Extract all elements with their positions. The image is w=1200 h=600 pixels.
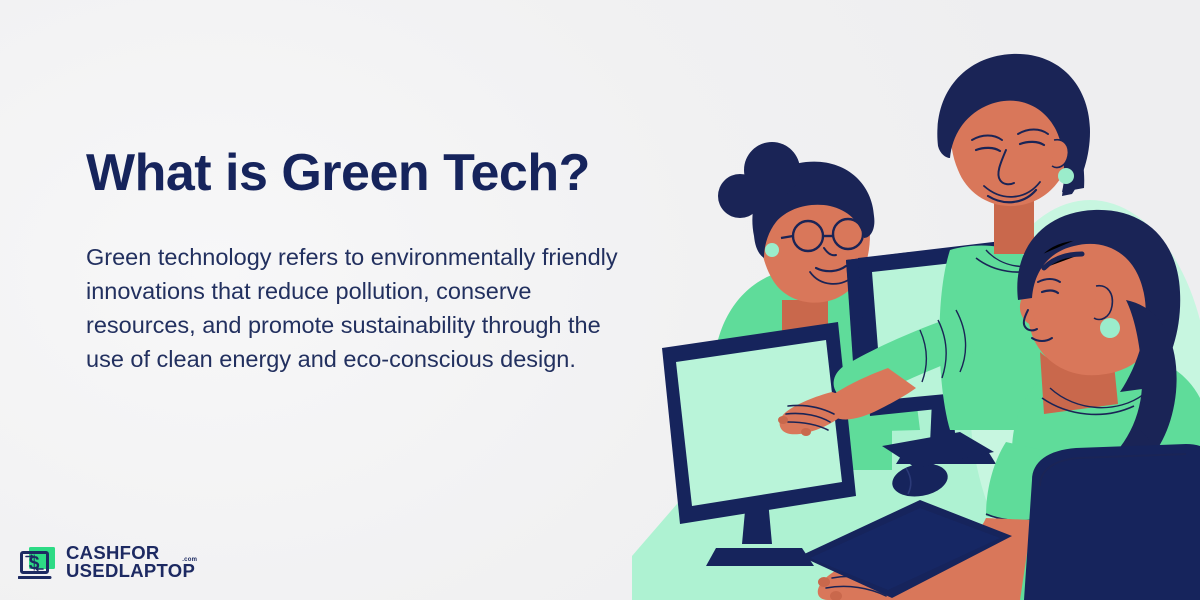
page-title: What is Green Tech? bbox=[86, 146, 646, 201]
three-people-at-computers-illustration bbox=[620, 0, 1200, 600]
brand-logo[interactable]: $ CASHFOR USEDLAPTOP .com bbox=[18, 543, 195, 581]
logo-tld: .com bbox=[182, 557, 197, 563]
body-paragraph: Green technology refers to environmental… bbox=[86, 241, 626, 376]
office-chair bbox=[1024, 444, 1200, 600]
logo-line-2: USEDLAPTOP bbox=[66, 562, 195, 581]
text-column: What is Green Tech? Green technology ref… bbox=[86, 146, 646, 376]
logo-wordmark: CASHFOR USEDLAPTOP .com bbox=[66, 544, 195, 581]
slide-canvas: What is Green Tech? Green technology ref… bbox=[0, 0, 1200, 600]
laptop-dollar-recycle-icon: $ bbox=[18, 543, 58, 581]
